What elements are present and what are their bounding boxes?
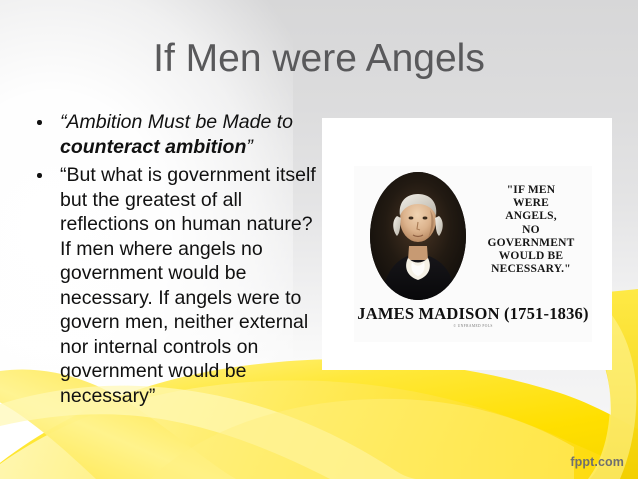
- slide-title: If Men were Angels: [0, 36, 638, 82]
- bullet-list: “Ambition Must be Made to counteract amb…: [28, 110, 316, 412]
- poster-sub-caption: © UNFRAMED POLS: [354, 324, 592, 329]
- bullet-item-quote-1: “Ambition Must be Made to counteract amb…: [28, 110, 316, 159]
- poster-caption: JAMES MADISON (1751-1836): [354, 304, 592, 323]
- madison-poster: "IF MEN WERE ANGELS, NO GOVERNMENT WOULD…: [354, 166, 592, 342]
- quote-line-5: GOVERNMENT: [474, 237, 588, 250]
- slide-canvas: If Men were Angels “Ambition Must be Mad…: [0, 0, 638, 479]
- image-panel: "IF MEN WERE ANGELS, NO GOVERNMENT WOULD…: [322, 118, 612, 370]
- fppt-watermark: fppt.com: [570, 455, 624, 469]
- bullet-item-quote-2: “But what is government itself but the g…: [28, 163, 316, 408]
- james-madison-portrait: [370, 172, 466, 300]
- quote-line-3: ANGELS,: [474, 210, 588, 223]
- bullet-1-lead: “Ambition Must be Made to: [60, 111, 293, 133]
- poster-quote: "IF MEN WERE ANGELS, NO GOVERNMENT WOULD…: [474, 184, 588, 276]
- quote-line-6: WOULD BE: [474, 250, 588, 263]
- quote-line-1: "IF MEN: [474, 184, 588, 197]
- quote-line-4: NO: [474, 224, 588, 237]
- portrait-artwork: [370, 172, 466, 300]
- quote-line-7: NECESSARY.": [474, 263, 588, 276]
- bullet-1-tail: ”: [246, 136, 253, 158]
- bullet-1-bold: counteract ambition: [60, 136, 246, 158]
- quote-line-2: WERE: [474, 197, 588, 210]
